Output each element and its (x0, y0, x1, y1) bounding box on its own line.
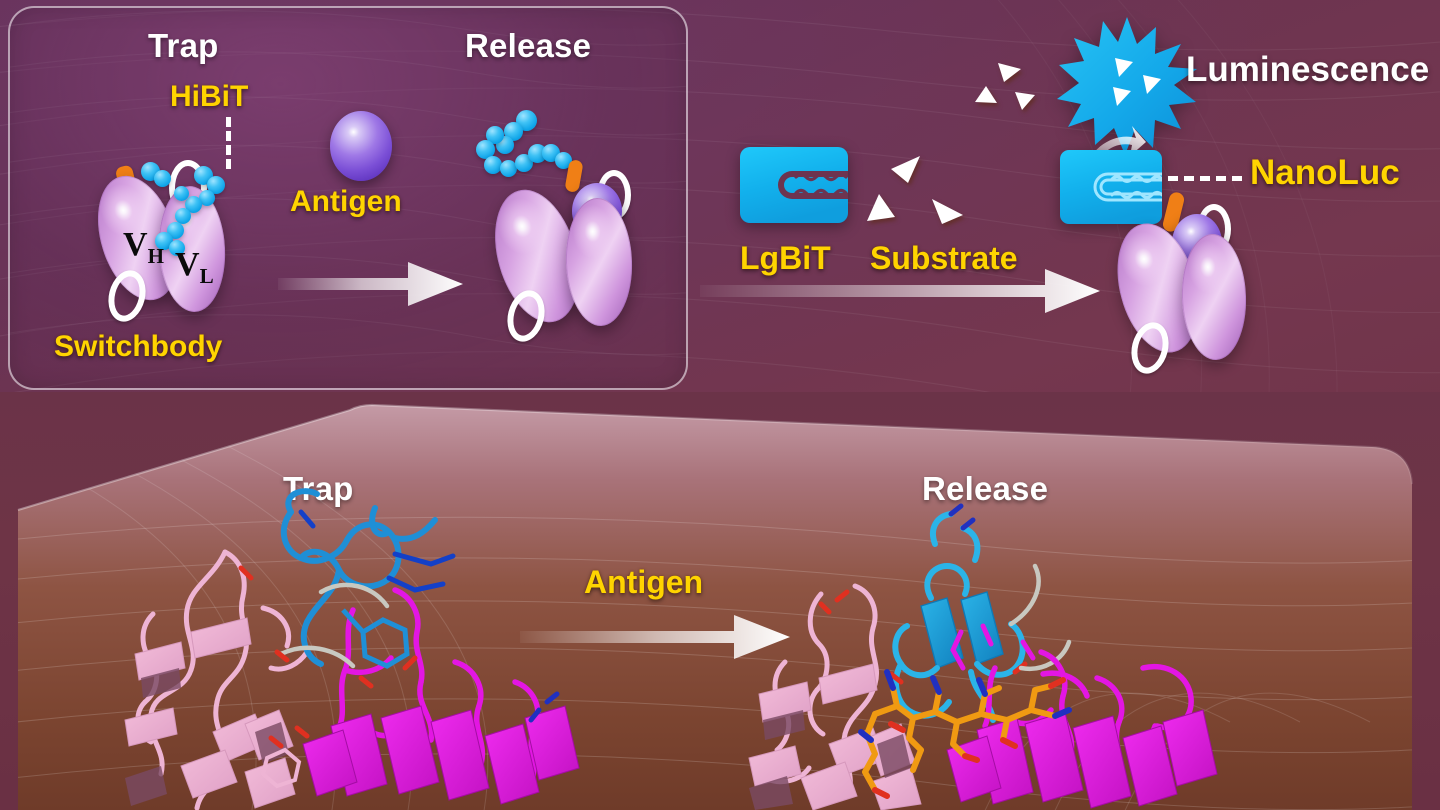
structural-comparison-panel: Trap Release Antigen (0, 392, 1440, 810)
vl-domain-label: VL (175, 248, 214, 287)
antigen-sphere-icon (330, 111, 392, 181)
vl-domain (1180, 233, 1248, 361)
switchbody-release-assembly (470, 110, 660, 340)
antibody-ribbon-structure-release (725, 482, 1245, 810)
substrate-triangle-icon (974, 85, 999, 108)
lgbit-to-nanoluc-arrow (700, 268, 1100, 314)
nanoluc-label: NanoLuc (1250, 153, 1400, 193)
luminescence-label: Luminescence (1186, 50, 1429, 90)
switchbody-label: Switchbody (54, 330, 222, 364)
substrate-triangle-icon (1013, 90, 1037, 112)
hibit-label: HiBiT (170, 80, 248, 114)
substrate-triangle-icon (866, 193, 898, 223)
figure-canvas: Trap Release HiBiT VH (0, 0, 1440, 810)
substrate-triangle-icon (930, 195, 964, 225)
nanoluc-leader-line (1168, 176, 1242, 181)
lgbit-notched-block-icon (740, 147, 848, 223)
vl-domain (564, 197, 634, 327)
trap-header-top: Trap (148, 27, 219, 65)
substrate-triangle-icon (997, 60, 1023, 84)
switchbody-nanoluc-assembly (1120, 192, 1300, 382)
antibody-ribbon-structure-trap (95, 482, 615, 810)
release-header-top: Release (465, 27, 591, 65)
antigen-label-top: Antigen (290, 185, 402, 219)
substrate-triangle-icon (890, 155, 922, 185)
vh-domain-label: VH (123, 228, 164, 267)
trap-to-release-arrow (278, 260, 463, 308)
